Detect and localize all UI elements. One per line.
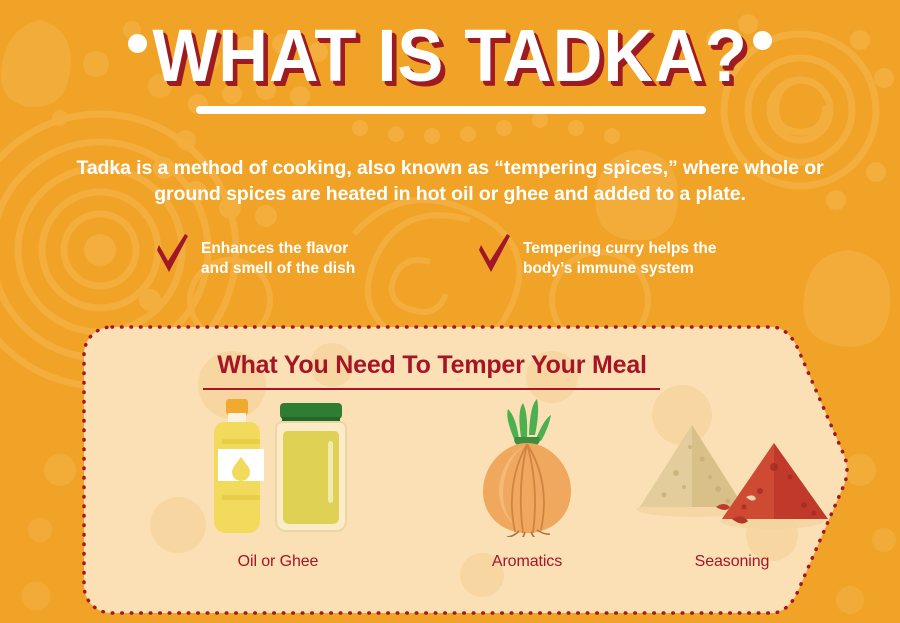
ingredient-oil-or-ghee: Oil or Ghee	[188, 397, 368, 571]
ingredients-list: Oil or Ghee	[82, 397, 782, 597]
ingredient-seasoning: Seasoning	[577, 397, 887, 571]
checkmark-icon	[477, 234, 511, 274]
checkmark-icon	[155, 234, 189, 274]
benefit-item-flavor: Enhances the flavor and smell of the dis…	[155, 236, 355, 279]
benefits-list: Enhances the flavor and smell of the dis…	[0, 236, 900, 306]
temper-panel: What You Need To Temper Your Meal	[82, 325, 882, 615]
title-decoration-dot-left	[128, 34, 147, 53]
intro-paragraph: Tadka is a method of cooking, also known…	[60, 155, 840, 207]
page-title: WHAT IS TADKA?	[32, 14, 869, 98]
panel-title-divider	[203, 388, 660, 390]
ingredient-label: Oil or Ghee	[188, 553, 368, 571]
spice-piles-illustration	[577, 397, 887, 537]
benefit-label: Enhances the flavor and smell of the dis…	[201, 236, 355, 279]
title-underline-divider	[196, 106, 706, 114]
infographic-root: WHAT IS TADKA? Tadka is a method of cook…	[0, 0, 900, 623]
benefit-label: Tempering curry helps the body’s immune …	[523, 236, 717, 279]
title-decoration-dot-right	[753, 31, 772, 50]
oil-bottle-and-jar-illustration	[188, 397, 368, 537]
ingredient-label: Seasoning	[577, 553, 887, 571]
panel-title: What You Need To Temper Your Meal	[82, 351, 782, 380]
header: WHAT IS TADKA?	[0, 14, 900, 98]
benefit-item-immunity: Tempering curry helps the body’s immune …	[477, 236, 717, 279]
